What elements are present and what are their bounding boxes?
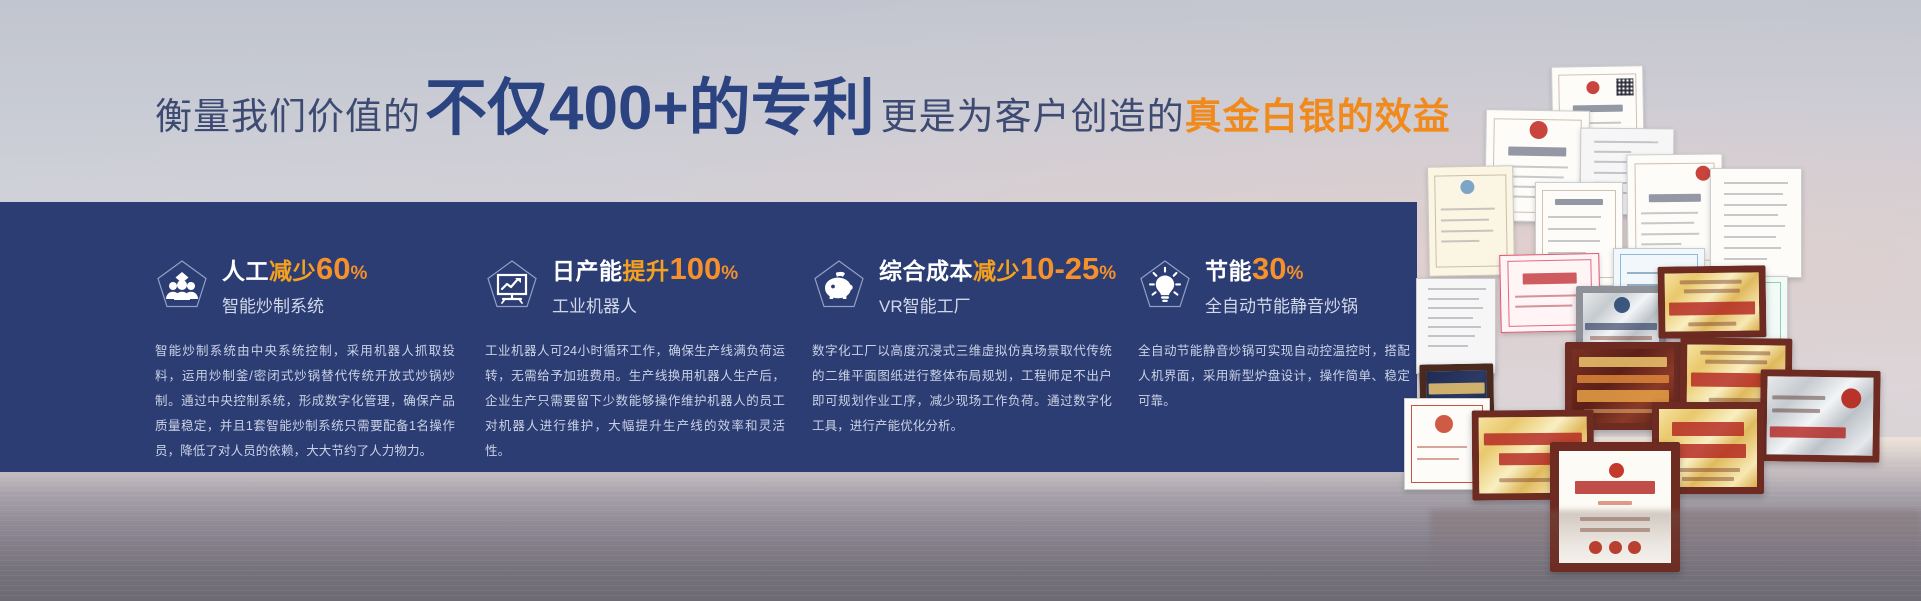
feature-heading-3: 综合成本减少10-25% VR智能工厂 (879, 253, 1116, 318)
stat-label-2: 日产能 (552, 258, 623, 284)
feature-heading-4: 节能30% 全自动节能静音炒锅 (1205, 253, 1358, 318)
banner-stage: 衡量我们价值的 不仅400+的专利 更是为客户创造的 真金白银的效益 (0, 0, 1921, 601)
certificate-pile (1430, 42, 1921, 567)
certificate (1416, 278, 1496, 374)
stat-label-4: 节能 (1205, 258, 1252, 284)
feature-heading-1: 人工减少60% 智能炒制系统 (222, 253, 367, 318)
feature-column-2: 日产能提升100% 工业机器人 工业机器人可24小时循环工作，确保生产线满负荷运… (485, 202, 785, 464)
feature-stat-2: 日产能提升100% (552, 253, 738, 286)
stat-action-1: 减少 (269, 258, 316, 284)
headline-highlight: 真金白银的效益 (1185, 86, 1451, 140)
headline-prefix: 衡量我们价值的 (155, 86, 421, 140)
stat-label-3: 综合成本 (879, 258, 973, 284)
award-plaque (1759, 369, 1880, 463)
stat-unit-2: % (721, 263, 738, 284)
people-group-icon (155, 258, 209, 312)
stat-label-1: 人工 (222, 258, 269, 284)
feature-subtitle-3: VR智能工厂 (879, 292, 1116, 317)
headline-emphasis: 不仅400+的专利 (425, 78, 875, 140)
feature-stat-3: 综合成本减少10-25% (879, 253, 1116, 286)
feature-subtitle-1: 智能炒制系统 (222, 292, 367, 317)
award-plaque (1658, 265, 1767, 339)
feature-heading-2: 日产能提升100% 工业机器人 (552, 253, 738, 318)
feature-header-1: 人工减少60% 智能炒制系统 (155, 246, 455, 324)
stat-action-3: 减少 (973, 258, 1020, 284)
pile-reflection (1430, 510, 1921, 580)
headline-middle: 更是为客户创造的 (881, 86, 1185, 140)
features-columns: 人工减少60% 智能炒制系统 智能炒制系统由中央系统控制，采用机器人抓取投料，运… (0, 202, 1417, 472)
feature-paragraph-2: 工业机器人可24小时循环工作，确保生产线满负荷运转，无需给予加班费用。生产线换用… (485, 339, 785, 464)
feature-stat-4: 节能30% (1205, 253, 1358, 286)
feature-subtitle-4: 全自动节能静音炒锅 (1205, 292, 1358, 317)
feature-column-3: 综合成本减少10-25% VR智能工厂 数字化工厂以高度沉浸式三维虚拟仿真场景取… (812, 202, 1112, 439)
chart-board-icon (485, 258, 539, 312)
feature-header-2: 日产能提升100% 工业机器人 (485, 246, 785, 324)
stat-number-1: 60 (316, 251, 350, 286)
feature-column-1: 人工减少60% 智能炒制系统 智能炒制系统由中央系统控制，采用机器人抓取投料，运… (155, 202, 455, 464)
light-bulb-icon (1138, 258, 1192, 312)
stat-number-2: 100 (670, 251, 722, 286)
stat-unit-1: % (350, 263, 367, 284)
features-panel: 人工减少60% 智能炒制系统 智能炒制系统由中央系统控制，采用机器人抓取投料，运… (0, 202, 1417, 472)
stat-action-2: 提升 (623, 258, 670, 284)
headline: 衡量我们价值的 不仅400+的专利 更是为客户创造的 真金白银的效益 (155, 78, 1395, 140)
feature-paragraph-4: 全自动节能静音炒锅可实现自动控温控时，搭配人机界面，采用新型炉盘设计，操作简单、… (1138, 339, 1410, 414)
certificate (1710, 168, 1802, 278)
feature-paragraph-3: 数字化工厂以高度沉浸式三维虚拟仿真场景取代传统的二维平面图纸进行整体布局规划，工… (812, 339, 1112, 439)
feature-header-4: 节能30% 全自动节能静音炒锅 (1138, 246, 1418, 324)
stat-unit-4: % (1286, 263, 1303, 284)
feature-paragraph-1: 智能炒制系统由中央系统控制，采用机器人抓取投料，运用炒制釜/密闭式炒锅替代传统开… (155, 339, 455, 464)
stat-number-3: 10-25 (1020, 251, 1099, 286)
stat-number-4: 30 (1252, 251, 1286, 286)
piggy-bank-icon (812, 258, 866, 312)
feature-header-3: 综合成本减少10-25% VR智能工厂 (812, 246, 1112, 324)
feature-column-4: 节能30% 全自动节能静音炒锅 全自动节能静音炒锅可实现自动控温控时，搭配人机界… (1138, 202, 1418, 414)
feature-subtitle-2: 工业机器人 (552, 292, 738, 317)
feature-stat-1: 人工减少60% (222, 253, 367, 286)
stat-unit-3: % (1099, 263, 1116, 284)
